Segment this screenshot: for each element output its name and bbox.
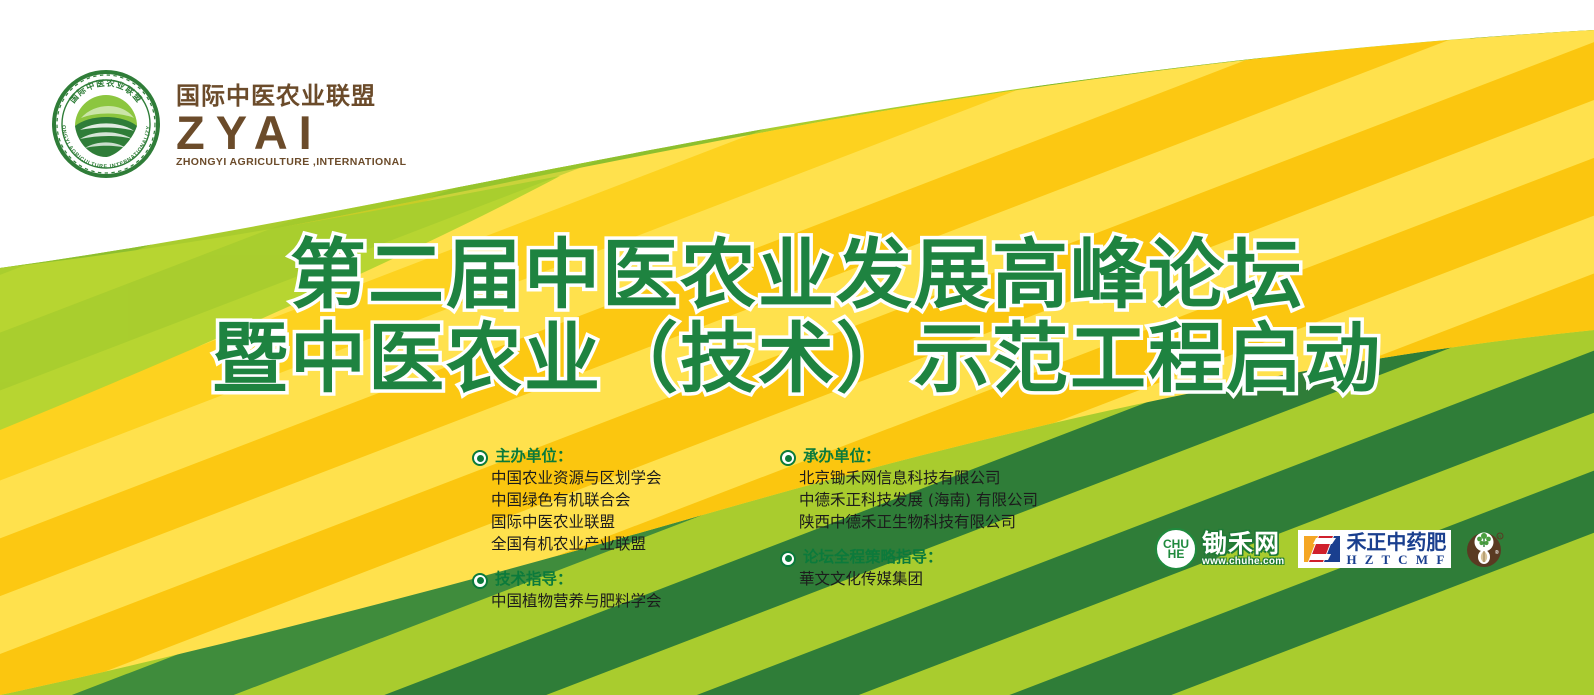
detail-group-technical-guidance: 技术指导： 中国植物营养与肥料学会 — [472, 569, 742, 612]
conference-banner: 国际中医农业联盟 ZHONGYI AGRICULTURE INTERNATION… — [0, 0, 1594, 695]
hezheng-name-cn: 禾正中药肥 — [1346, 532, 1446, 552]
bullet-icon — [472, 573, 488, 589]
detail-group-hosts: 承办单位： 北京锄禾网信息科技有限公司 中德禾正科技发展 (海南) 有限公司 陕… — [780, 446, 1080, 533]
detail-item: 陕西中德禾正生物科技有限公司 — [780, 511, 1080, 533]
detail-item: 中国植物营养与肥料学会 — [472, 590, 742, 612]
detail-heading-label: 技术指导： — [495, 569, 573, 590]
detail-heading: 论坛全程策略指导： — [780, 547, 1080, 568]
detail-heading: 主办单位： — [472, 446, 742, 467]
chuhe-wordmark: 锄禾网 www.chuhe.com — [1202, 531, 1284, 567]
bullet-icon — [780, 450, 796, 466]
zyai-logo-wordmark: 国际中医农业联盟 ZYAI ZHONGYI AGRICULTURE ,INTER… — [176, 80, 406, 167]
detail-item: 北京锄禾网信息科技有限公司 — [780, 467, 1080, 489]
sponsor-chuhe-wang: CHUHE 锄禾网 www.chuhe.com — [1155, 528, 1284, 570]
zyai-abbreviation: ZYAI — [176, 111, 406, 156]
zyai-logo: 国际中医农业联盟 ZHONGYI AGRICULTURE INTERNATION… — [50, 68, 406, 180]
detail-group-strategy-guidance: 论坛全程策略指导： 華文文化传媒集团 — [780, 547, 1080, 590]
plant-root-emblem-icon: ® R — [1465, 528, 1507, 570]
chuhe-name-cn: 锄禾网 — [1202, 531, 1284, 556]
detail-item: 華文文化传媒集团 — [780, 568, 1080, 590]
hezheng-name-en: H Z T C M F — [1346, 553, 1446, 566]
detail-group-organizers: 主办单位： 中国农业资源与区划学会 中国绿色有机联合会 国际中医农业联盟 全国有… — [472, 446, 742, 555]
detail-heading: 承办单位： — [780, 446, 1080, 467]
chuhe-url: www.chuhe.com — [1202, 557, 1284, 567]
zyai-emblem-icon: 国际中医农业联盟 ZHONGYI AGRICULTURE INTERNATION… — [50, 68, 162, 180]
hezheng-mark-icon — [1302, 534, 1342, 564]
detail-heading-label: 主办单位： — [495, 446, 573, 467]
sponsor-hezheng: 禾正中药肥 H Z T C M F — [1298, 530, 1450, 568]
detail-heading-label: 论坛全程策略指导： — [803, 547, 943, 568]
detail-item: 全国有机农业产业联盟 — [472, 533, 742, 555]
detail-item: 国际中医农业联盟 — [472, 511, 742, 533]
bullet-icon — [780, 551, 796, 567]
organizer-details: 主办单位： 中国农业资源与区划学会 中国绿色有机联合会 国际中医农业联盟 全国有… — [472, 446, 1080, 626]
chuhe-circle-icon: CHUHE — [1155, 528, 1197, 570]
detail-item: 中国农业资源与区划学会 — [472, 467, 742, 489]
bullet-icon — [472, 450, 488, 466]
zyai-name-cn: 国际中医农业联盟 — [176, 84, 406, 108]
svg-text:R: R — [1498, 534, 1501, 539]
details-right-column: 承办单位： 北京锄禾网信息科技有限公司 中德禾正科技发展 (海南) 有限公司 陕… — [780, 446, 1080, 626]
sponsor-plant-root-emblem: ® R — [1465, 528, 1507, 570]
svg-text:®: ® — [1495, 549, 1499, 556]
detail-heading-label: 承办单位： — [803, 446, 881, 467]
detail-item: 中国绿色有机联合会 — [472, 489, 742, 511]
details-left-column: 主办单位： 中国农业资源与区划学会 中国绿色有机联合会 国际中医农业联盟 全国有… — [472, 446, 742, 626]
detail-heading: 技术指导： — [472, 569, 742, 590]
detail-item: 中德禾正科技发展 (海南) 有限公司 — [780, 489, 1080, 511]
sponsor-logos: CHUHE 锄禾网 www.chuhe.com 禾正中药肥 H Z T C M … — [1155, 528, 1507, 570]
zyai-name-en: ZHONGYI AGRICULTURE ,INTERNATIONAL — [176, 157, 406, 168]
hezheng-wordmark: 禾正中药肥 H Z T C M F — [1346, 532, 1446, 566]
